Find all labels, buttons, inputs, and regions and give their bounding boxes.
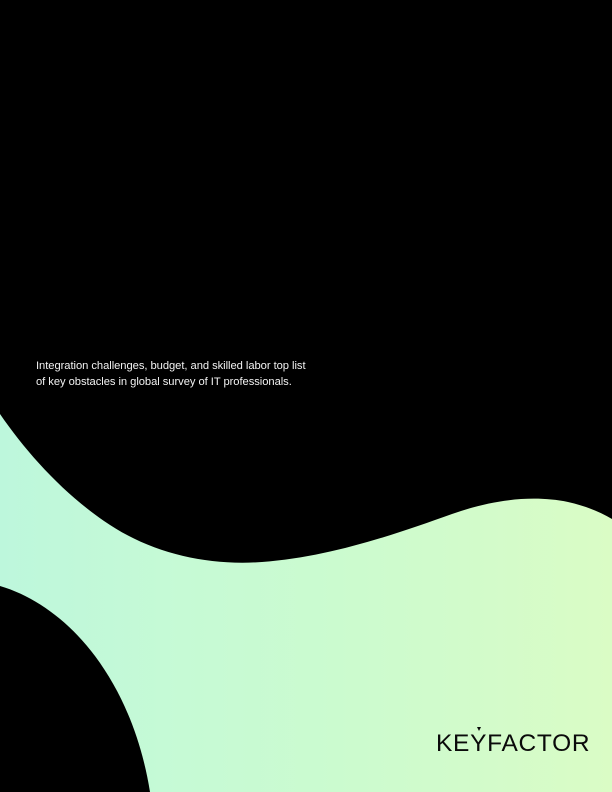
cover-subtitle-line-1: Integration challenges, budget, and skil… [36,359,436,375]
logo-text-before: KE [436,730,470,757]
logo-letter-y-glyph: Y [470,730,487,757]
cover-subtitle: Integration challenges, budget, and skil… [36,359,436,390]
document-cover-page: The State of Quantum Readiness in 2024 I… [0,0,612,792]
cover-subtitle-line-2: of key obstacles in global survey of IT … [36,375,436,391]
logo-text-after: FACTOR [487,730,590,757]
logo-accent-icon [477,727,481,731]
keyfactor-logo: KEYFACTOR [436,731,590,757]
logo-letter-y: Y [470,731,487,757]
background-artwork [0,0,612,792]
